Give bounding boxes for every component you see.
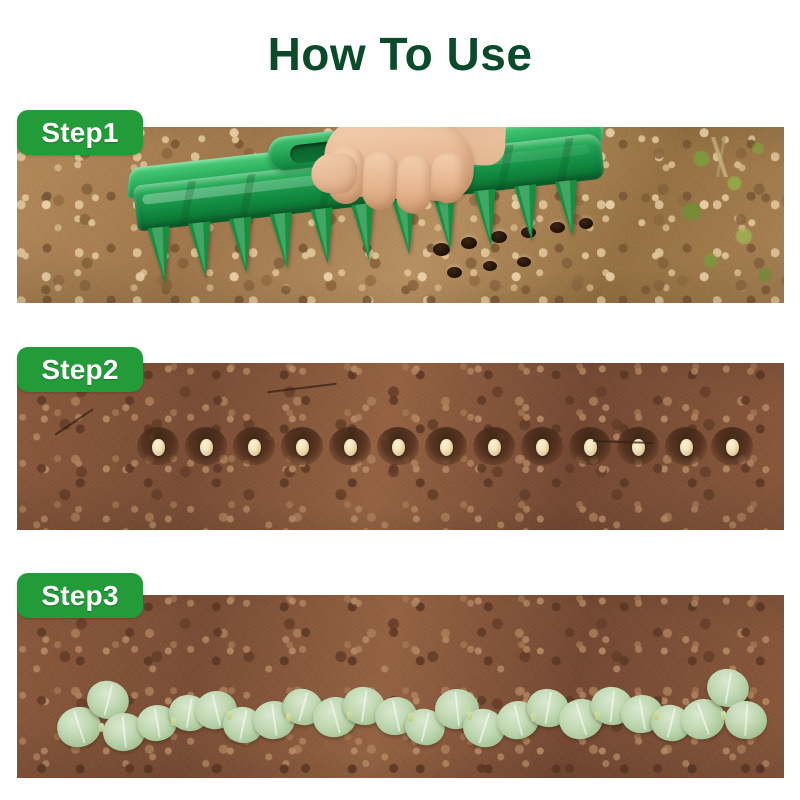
seed: [248, 439, 261, 456]
seed: [680, 439, 693, 456]
step3-photo: [17, 595, 784, 778]
rake-tooth: [229, 217, 257, 275]
dry-twigs-icon: [676, 137, 766, 177]
how-to-use-infographic: How To Use: [0, 0, 800, 800]
seed: [152, 439, 165, 456]
seed: [296, 439, 309, 456]
stem: [408, 713, 413, 722]
step2-badge-label: Step2: [41, 356, 118, 384]
finger: [395, 155, 432, 215]
finger: [430, 153, 467, 205]
rake-tooth: [270, 212, 298, 270]
stem: [531, 713, 536, 722]
seed: [392, 439, 405, 456]
thumb: [310, 152, 358, 194]
stem: [227, 711, 232, 720]
soil-hole: [483, 261, 497, 271]
stem: [467, 711, 472, 720]
stem: [654, 711, 659, 720]
step3-badge: Step3: [17, 573, 143, 618]
rake-tooth: [188, 221, 216, 279]
stem: [286, 713, 291, 722]
step1-badge-label: Step1: [41, 119, 118, 147]
seed: [440, 439, 453, 456]
seed: [344, 439, 357, 456]
seed: [488, 439, 501, 456]
page-title: How To Use: [0, 30, 800, 78]
stem: [721, 711, 726, 720]
soil-hole: [517, 257, 531, 267]
step2-badge: Step2: [17, 347, 143, 392]
hand-icon: [304, 127, 499, 242]
seed: [200, 439, 213, 456]
step-3-section: Step3: [17, 595, 784, 778]
step1-badge: Step1: [17, 110, 143, 155]
step3-badge-label: Step3: [41, 582, 118, 610]
stem: [171, 717, 176, 726]
step-2-section: Step2: [17, 363, 784, 530]
seed: [536, 439, 549, 456]
stem: [595, 711, 600, 720]
rake-tooth: [148, 226, 176, 284]
stem: [99, 723, 104, 732]
rake-tooth: [555, 180, 583, 238]
rake-tooth: [514, 184, 542, 242]
step-1-section: Step1: [17, 127, 784, 303]
soil-hole: [447, 267, 462, 278]
seed: [726, 439, 739, 456]
finger: [362, 151, 399, 211]
stem: [347, 711, 352, 720]
soil-background-red: [17, 595, 784, 778]
